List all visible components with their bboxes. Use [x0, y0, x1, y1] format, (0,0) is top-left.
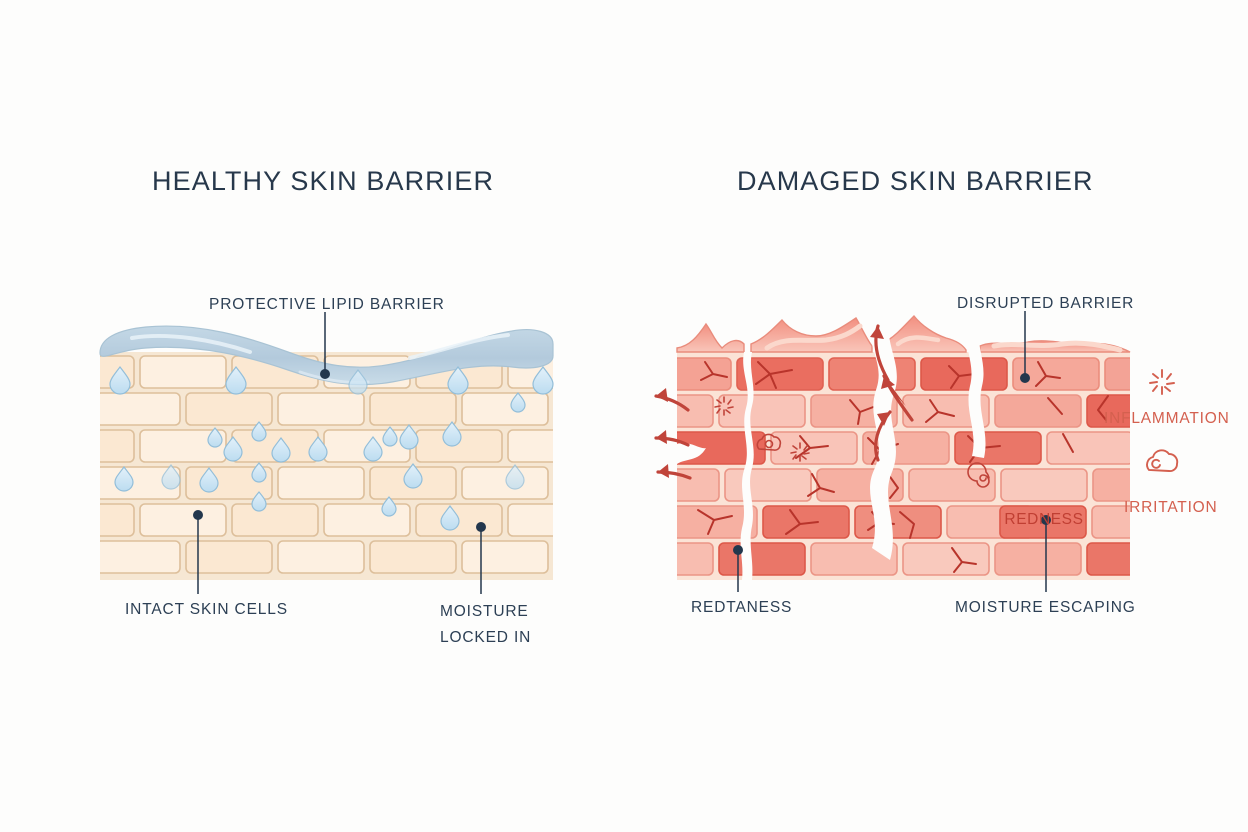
brick-row	[96, 430, 568, 462]
page-title-damaged: DAMAGED SKIN BARRIER	[737, 166, 1094, 197]
label-intact-skin-cells: INTACT SKIN CELLS	[125, 599, 288, 620]
healthy-wall-group	[96, 312, 584, 594]
callout-dot-lipid	[320, 369, 330, 379]
label-moisture-locked-in: MOISTURE LOCKED IN	[440, 599, 531, 651]
brick-row	[96, 541, 584, 573]
brick-row	[96, 504, 568, 536]
callout-dot-disrupted-barrier	[1020, 373, 1030, 383]
label-disrupted-barrier: DISRUPTED BARRIER	[957, 293, 1134, 314]
callout-dot-moisture	[476, 522, 486, 532]
diagram-canvas: REDNESS HEALTHY SKIN BARRIER DAMAGED SKI…	[0, 0, 1248, 832]
starburst-icon	[1150, 370, 1174, 394]
callout-dot-intact-cells	[193, 510, 203, 520]
callout-dot-redtaness	[733, 545, 743, 555]
brick-row	[96, 393, 584, 425]
swirl-cloud-icon	[1147, 450, 1177, 471]
label-redtaness: REDTANESS	[691, 597, 792, 618]
torn-barrier-top	[677, 316, 1130, 352]
label-inflammation: INFLAMMATION	[1104, 410, 1230, 428]
brick-row	[673, 395, 1145, 427]
label-irritation: IRRITATION	[1124, 499, 1218, 517]
label-moisture-line1: MOISTURE	[440, 599, 531, 625]
label-protective-lipid-barrier: PROTECTIVE LIPID BARRIER	[209, 294, 445, 315]
label-moisture-escaping: MOISTURE ESCAPING	[955, 597, 1136, 618]
page-title-healthy: HEALTHY SKIN BARRIER	[152, 166, 494, 197]
skin-barrier-illustration: REDNESS	[0, 0, 1248, 832]
redness-brick-label: REDNESS	[1004, 511, 1083, 528]
damaged-wall-group: REDNESS	[656, 311, 1177, 592]
label-moisture-line2: LOCKED IN	[440, 625, 531, 651]
